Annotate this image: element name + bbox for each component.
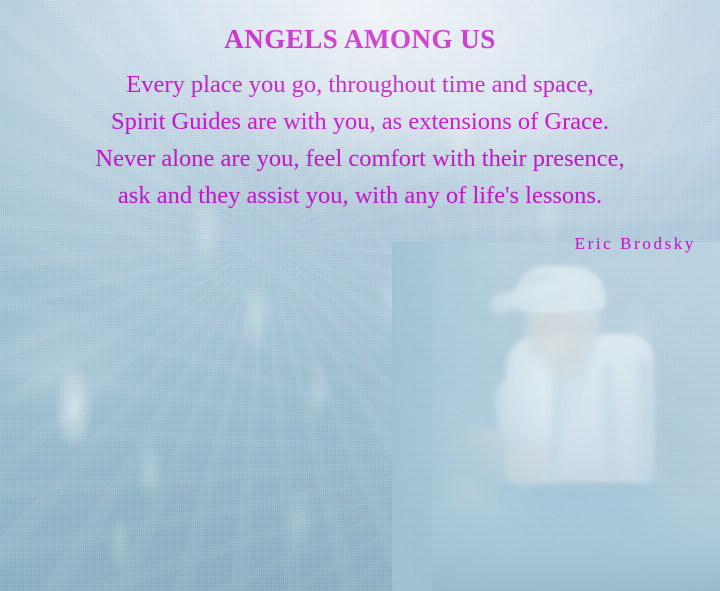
poem-title: ANGELS AMONG US <box>0 26 720 54</box>
cap-shading <box>520 272 560 298</box>
shoulder-strap <box>543 308 603 447</box>
photo-left-fade <box>392 242 542 591</box>
brown-belt <box>508 470 648 485</box>
cap-brim <box>489 279 569 315</box>
face-shading <box>528 314 586 362</box>
poem-text-block: ANGELS AMONG US Every place you go, thro… <box>0 0 720 254</box>
shirt-sleeve <box>492 371 553 448</box>
neck <box>550 346 586 378</box>
white-cap <box>514 266 606 312</box>
bare-arm <box>445 418 554 494</box>
poem-line-2: Spirit Guides are with you, as extension… <box>0 103 720 140</box>
shirt-fold <box>599 366 621 479</box>
photo-bottom-fade <box>432 481 720 591</box>
blue-jeans <box>496 478 664 591</box>
poem-author: Eric Brodsky <box>0 234 696 254</box>
shirt-edge <box>638 358 664 484</box>
head <box>524 284 600 370</box>
man-photograph <box>452 262 720 591</box>
photo-haze-overlay <box>432 242 720 591</box>
jeans-leg <box>467 503 598 591</box>
poem-line-4: ask and they assist you, with any of lif… <box>0 177 720 214</box>
poem-line-3: Never alone are you, feel comfort with t… <box>0 140 720 177</box>
shirt-fold <box>544 354 571 481</box>
white-tshirt <box>506 334 654 484</box>
jeans-shadow <box>542 494 650 591</box>
poem-line-1: Every place you go, throughout time and … <box>0 66 720 103</box>
hand <box>433 468 489 519</box>
poem-poster: ANGELS AMONG US Every place you go, thro… <box>0 0 720 591</box>
